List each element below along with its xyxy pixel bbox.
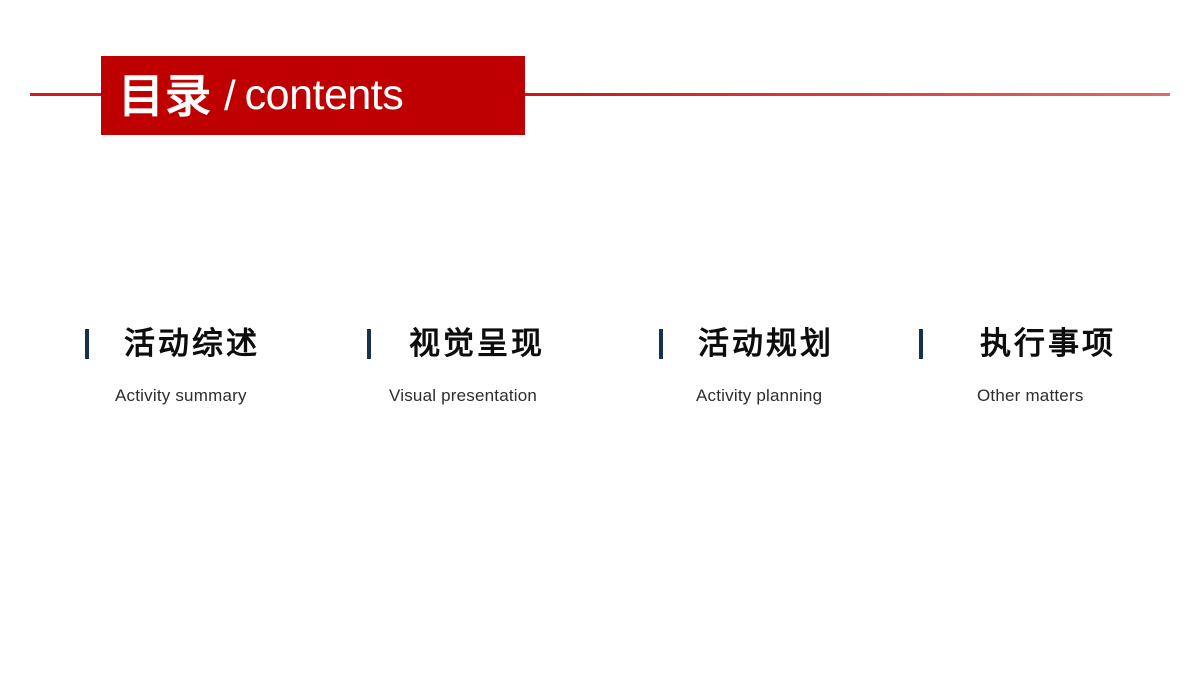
contents-item-heading: 视觉呈现 — [367, 322, 545, 366]
contents-item-label-en: Activity planning — [696, 386, 834, 406]
contents-item-label-cn: 视觉呈现 — [409, 329, 545, 360]
contents-item-label-en: Other matters — [977, 386, 1116, 406]
section-title-english: contents — [245, 74, 404, 117]
section-title-chinese: 目录 — [118, 73, 212, 119]
contents-item-label-en: Visual presentation — [389, 386, 545, 406]
vertical-bar-icon — [919, 329, 923, 359]
slide-canvas: 目录 / contents 活动综述 Activity summary 视觉呈现… — [0, 0, 1200, 675]
header-rule-right — [524, 93, 1170, 96]
contents-item-label-cn: 活动规划 — [698, 329, 834, 360]
contents-item-other-matters[interactable]: 执行事项 Other matters — [919, 322, 1116, 422]
contents-list: 活动综述 Activity summary 视觉呈现 Visual presen… — [0, 322, 1200, 422]
vertical-bar-icon — [367, 329, 371, 359]
contents-item-heading: 活动规划 — [659, 322, 834, 366]
vertical-bar-icon — [659, 329, 663, 359]
section-title-banner: 目录 / contents — [101, 56, 525, 135]
contents-item-activity-summary[interactable]: 活动综述 Activity summary — [85, 322, 260, 422]
section-title-separator: / — [224, 75, 236, 117]
contents-item-activity-planning[interactable]: 活动规划 Activity planning — [659, 322, 834, 422]
contents-item-visual-presentation[interactable]: 视觉呈现 Visual presentation — [367, 322, 545, 422]
contents-item-label-cn: 执行事项 — [980, 329, 1116, 360]
contents-item-heading: 执行事项 — [919, 322, 1116, 366]
contents-item-label-cn: 活动综述 — [124, 329, 260, 360]
contents-item-label-en: Activity summary — [115, 386, 260, 406]
vertical-bar-icon — [85, 329, 89, 359]
header-rule-left — [30, 93, 105, 96]
contents-item-heading: 活动综述 — [85, 322, 260, 366]
